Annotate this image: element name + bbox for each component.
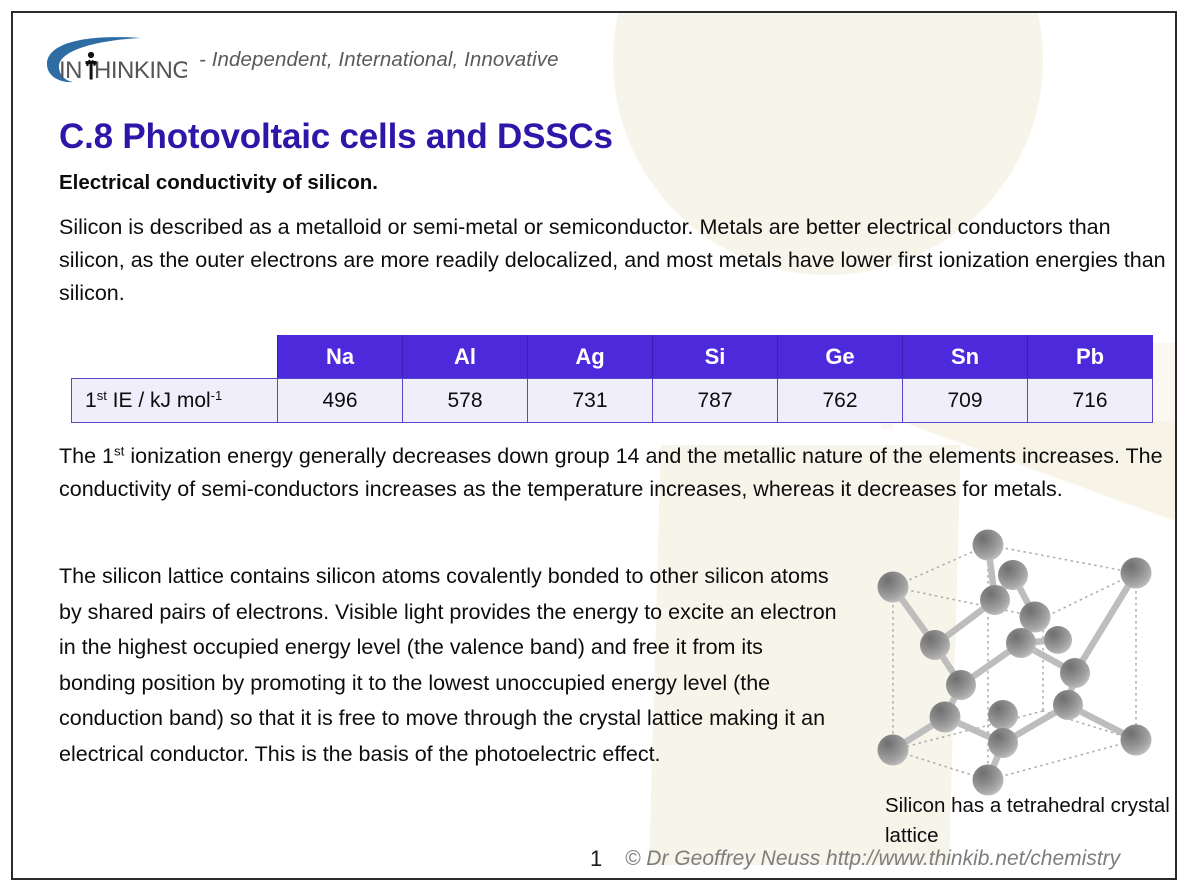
table-column-header: Al [402, 335, 527, 378]
table-column-header: Si [652, 335, 777, 378]
slide-frame: IN HINKING - Independent, International,… [11, 11, 1177, 880]
table-cell-value: 496 [277, 378, 402, 423]
table-row: 1st IE / kJ mol-1 496 578 731 787 762 70… [71, 378, 1153, 423]
table-row-label: 1st IE / kJ mol-1 [71, 378, 277, 423]
paragraph-lattice: The silicon lattice contains silicon ato… [59, 559, 839, 772]
table-column-header: Pb [1027, 335, 1153, 378]
row-label-number: 1 [85, 389, 97, 412]
silicon-lattice-icon [853, 525, 1173, 815]
page-title: C.8 Photovoltaic cells and DSSCs [59, 117, 613, 157]
brand-tagline: - Independent, International, Innovative [199, 48, 559, 72]
svg-text:HINKING: HINKING [94, 57, 187, 84]
table-cell-value: 709 [902, 378, 1027, 423]
row-label-ordinal: st [97, 387, 107, 402]
table-column-header: Ge [777, 335, 902, 378]
inthinking-logo-icon: IN HINKING [37, 34, 187, 86]
brand-header: IN HINKING - Independent, International,… [37, 33, 559, 87]
table-header-row: Na Al Ag Si Ge Sn Pb [71, 335, 1153, 378]
paragraph-intro: Silicon is described as a metalloid or s… [59, 211, 1167, 310]
table-cell-value: 578 [402, 378, 527, 423]
table-cell-value: 716 [1027, 378, 1153, 423]
paragraph-trend: The 1st ionization energy generally decr… [59, 440, 1174, 506]
row-label-exponent: -1 [211, 387, 223, 402]
table-column-header: Na [277, 335, 402, 378]
section-subtitle: Electrical conductivity of silicon. [59, 171, 378, 195]
table-column-header: Sn [902, 335, 1027, 378]
svg-text:IN: IN [59, 57, 82, 84]
trend-text-post: ionization energy generally decreases do… [59, 444, 1163, 501]
table-cell-value: 762 [777, 378, 902, 423]
trend-ordinal: st [114, 444, 124, 459]
table-corner-cell [71, 335, 277, 378]
table-cell-value: 731 [527, 378, 652, 423]
table-column-header: Ag [527, 335, 652, 378]
trend-text-pre: The 1 [59, 444, 114, 468]
row-label-units: IE / kJ mol [107, 389, 211, 412]
page-number: 1 [590, 846, 602, 872]
figure-caption: Silicon has a tetrahedral crystal lattic… [885, 791, 1175, 851]
copyright-notice: © Dr Geoffrey Neuss http://www.thinkib.n… [625, 847, 1120, 871]
ionization-energy-table: Na Al Ag Si Ge Sn Pb 1st IE / kJ mol-1 4… [71, 335, 1153, 423]
table-cell-value: 787 [652, 378, 777, 423]
